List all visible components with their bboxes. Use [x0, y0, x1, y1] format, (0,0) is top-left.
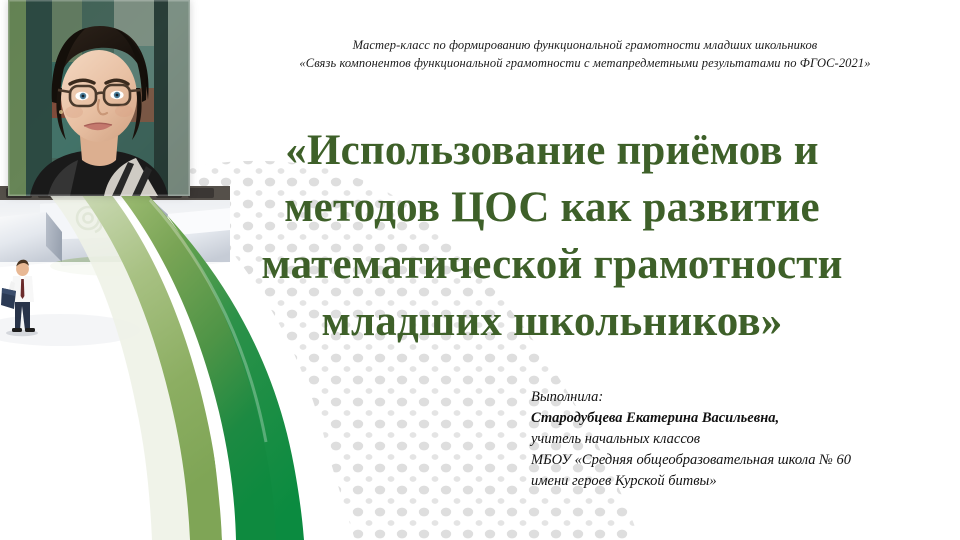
author-name: Стародубцева Екатерина Васильевна,: [531, 408, 951, 429]
author-label: Выполнила:: [531, 387, 951, 408]
title-line-2: методов ЦОС как развитие: [182, 179, 922, 236]
title-line-1: «Использование приёмов и: [182, 122, 922, 179]
author-school-line-1: МБОУ «Средняя общеобразовательная школа …: [531, 450, 951, 471]
portrait-photo: [8, 0, 190, 196]
title-line-3: математической грамотности: [182, 236, 922, 293]
header-line-1: Мастер-класс по формированию функциональ…: [235, 36, 935, 54]
businessman-figure: [1, 260, 38, 337]
author-credits: Выполнила: Стародубцева Екатерина Василь…: [531, 387, 951, 492]
author-position: учитель начальных классов: [531, 429, 951, 450]
presentation-slide: Мастер-класс по формированию функциональ…: [0, 0, 960, 540]
header-line-2: «Связь компонентов функциональной грамот…: [235, 54, 935, 72]
keyboard-key-left: [0, 212, 62, 268]
title-line-4: младших школьников»: [182, 293, 922, 350]
slide-title: «Использование приёмов и методов ЦОС как…: [182, 122, 922, 350]
header-subtitle: Мастер-класс по формированию функциональ…: [235, 36, 935, 72]
ribbon-pale: [44, 186, 195, 540]
keyboard-key-large: [40, 198, 176, 266]
author-school-line-2: имени героев Курской битвы»: [531, 471, 951, 492]
